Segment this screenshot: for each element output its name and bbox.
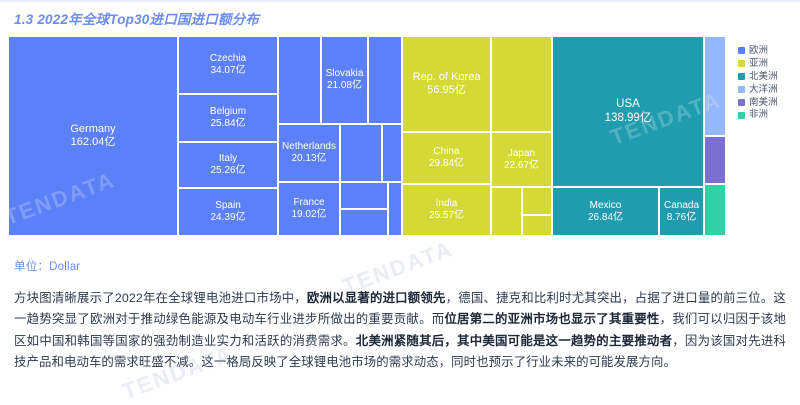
treemap-cell-korea[interactable]: Rep. of Korea 56.95亿 xyxy=(402,36,491,132)
treemap-cell-africa[interactable] xyxy=(704,184,726,236)
cell-label: Slovakia xyxy=(326,68,364,80)
legend-item-africa[interactable]: 非洲 xyxy=(738,110,796,120)
treemap-cell-czechia[interactable]: Czechia 34.07亿 xyxy=(178,36,278,94)
treemap-cell-oceania[interactable] xyxy=(704,36,726,136)
paragraph-bold-1: 欧洲以显著的进口额领先 xyxy=(307,291,446,305)
treemap-cell-eu-unlabeled-5[interactable] xyxy=(340,182,388,209)
treemap-cell-netherlands[interactable]: Netherlands 20.13亿 xyxy=(278,124,340,182)
cell-value: 24.39亿 xyxy=(210,212,245,224)
treemap-cell-slovakia[interactable]: Slovakia 21.08亿 xyxy=(321,36,368,124)
treemap-plot: Germany 162.04亿 Czechia 34.07亿 Belgium 2… xyxy=(8,36,726,236)
treemap-cell-eu-unlabeled-1[interactable] xyxy=(278,36,321,124)
legend-swatch-icon xyxy=(738,112,745,119)
cell-value: 25.57亿 xyxy=(429,210,464,222)
treemap-cell-eu-unlabeled-2[interactable] xyxy=(368,36,402,124)
cell-value: 25.26亿 xyxy=(210,165,245,177)
report-page: 1.3 2022年全球Top30进口国进口额分布 Germany 162.04亿… xyxy=(0,0,800,402)
treemap-cell-asia-unlabeled-2[interactable] xyxy=(491,187,522,236)
cell-label: USA xyxy=(616,98,640,112)
cell-label: Canada xyxy=(664,200,699,212)
legend-label: 南美洲 xyxy=(749,98,778,108)
legend-label: 非洲 xyxy=(749,110,768,120)
treemap-cell-germany[interactable]: Germany 162.04亿 xyxy=(8,36,178,236)
cell-value: 56.95亿 xyxy=(427,84,466,97)
cell-value: 25.84亿 xyxy=(210,118,245,130)
cell-label: China xyxy=(433,146,459,158)
legend-item-north-america[interactable]: 北美洲 xyxy=(738,72,796,82)
cell-value: 19.02亿 xyxy=(291,209,326,221)
unit-label: 单位：Dollar xyxy=(14,258,80,274)
cell-value: 162.04亿 xyxy=(71,136,116,149)
treemap-cell-japan[interactable]: Japan 22.67亿 xyxy=(491,132,552,187)
cell-value: 20.13亿 xyxy=(291,153,326,165)
treemap-cell-china[interactable]: China 29.84亿 xyxy=(402,132,491,184)
legend-label: 欧洲 xyxy=(749,46,768,56)
page-top-rule xyxy=(0,0,800,2)
treemap-cell-france[interactable]: France 19.02亿 xyxy=(278,182,340,236)
cell-value: 22.67亿 xyxy=(504,160,539,172)
cell-value: 8.76亿 xyxy=(667,212,696,224)
legend-swatch-icon xyxy=(738,47,745,54)
chart-legend: 欧洲 亚洲 北美洲 大洋洲 南美洲 非洲 xyxy=(738,46,796,120)
cell-label: Czechia xyxy=(210,53,246,65)
cell-label: Belgium xyxy=(210,106,246,118)
treemap-cell-india[interactable]: India 25.57亿 xyxy=(402,184,491,236)
legend-swatch-icon xyxy=(738,99,745,106)
legend-item-asia[interactable]: 亚洲 xyxy=(738,59,796,69)
treemap-cell-eu-unlabeled-7[interactable] xyxy=(388,182,402,236)
cell-value: 34.07亿 xyxy=(210,65,245,77)
treemap-cell-asia-unlabeled-3[interactable] xyxy=(522,187,552,215)
treemap-cell-eu-unlabeled-4[interactable] xyxy=(382,124,402,182)
treemap-cell-eu-unlabeled-3[interactable] xyxy=(340,124,382,182)
analysis-paragraph: 方块图清晰展示了2022年在全球锂电池进口市场中，欧洲以显著的进口额领先，德国、… xyxy=(14,288,786,373)
legend-item-south-america[interactable]: 南美洲 xyxy=(738,98,796,108)
treemap-cell-canada[interactable]: Canada 8.76亿 xyxy=(659,187,704,236)
cell-label: Netherlands xyxy=(282,141,336,153)
cell-value: 29.84亿 xyxy=(429,158,464,170)
page-title: 1.3 2022年全球Top30进口国进口额分布 xyxy=(14,8,259,28)
cell-label: Mexico xyxy=(590,200,622,212)
legend-swatch-icon xyxy=(738,60,745,67)
cell-label: Spain xyxy=(215,200,241,212)
legend-label: 北美洲 xyxy=(749,72,778,82)
cell-label: Rep. of Korea xyxy=(413,71,481,84)
treemap-cell-asia-unlabeled-4[interactable] xyxy=(522,215,552,236)
cell-label: France xyxy=(293,197,324,209)
treemap-chart: Germany 162.04亿 Czechia 34.07亿 Belgium 2… xyxy=(8,36,792,236)
treemap-cell-belgium[interactable]: Belgium 25.84亿 xyxy=(178,94,278,142)
cell-label: Germany xyxy=(70,123,115,136)
legend-swatch-icon xyxy=(738,73,745,80)
treemap-cell-usa[interactable]: USA 138.99亿 xyxy=(552,36,704,187)
treemap-cell-spain[interactable]: Spain 24.39亿 xyxy=(178,188,278,236)
cell-value: 138.99亿 xyxy=(605,112,652,126)
cell-label: Italy xyxy=(219,153,237,165)
paragraph-bold-3: 北美洲紧随其后，其中美国可能是这一趋势的主要推动者 xyxy=(356,334,672,348)
legend-label: 大洋洲 xyxy=(749,85,778,95)
cell-value: 26.84亿 xyxy=(588,212,623,224)
cell-label: Japan xyxy=(508,148,535,160)
cell-value: 21.08亿 xyxy=(327,80,362,92)
paragraph-part-1: 方块图清晰展示了2022年在全球锂电池进口市场中， xyxy=(14,291,307,305)
legend-item-oceania[interactable]: 大洋洲 xyxy=(738,85,796,95)
treemap-cell-mexico[interactable]: Mexico 26.84亿 xyxy=(552,187,659,236)
treemap-cell-south-america[interactable] xyxy=(704,136,726,184)
treemap-cell-eu-unlabeled-6[interactable] xyxy=(340,209,388,236)
cell-label: India xyxy=(436,198,458,210)
treemap-cell-asia-unlabeled-1[interactable] xyxy=(491,36,552,132)
treemap-cell-italy[interactable]: Italy 25.26亿 xyxy=(178,142,278,188)
paragraph-bold-2: 位居第二的亚洲市场也显示了其重要性 xyxy=(444,312,659,326)
legend-label: 亚洲 xyxy=(749,59,768,69)
legend-item-europe[interactable]: 欧洲 xyxy=(738,46,796,56)
legend-swatch-icon xyxy=(738,86,745,93)
